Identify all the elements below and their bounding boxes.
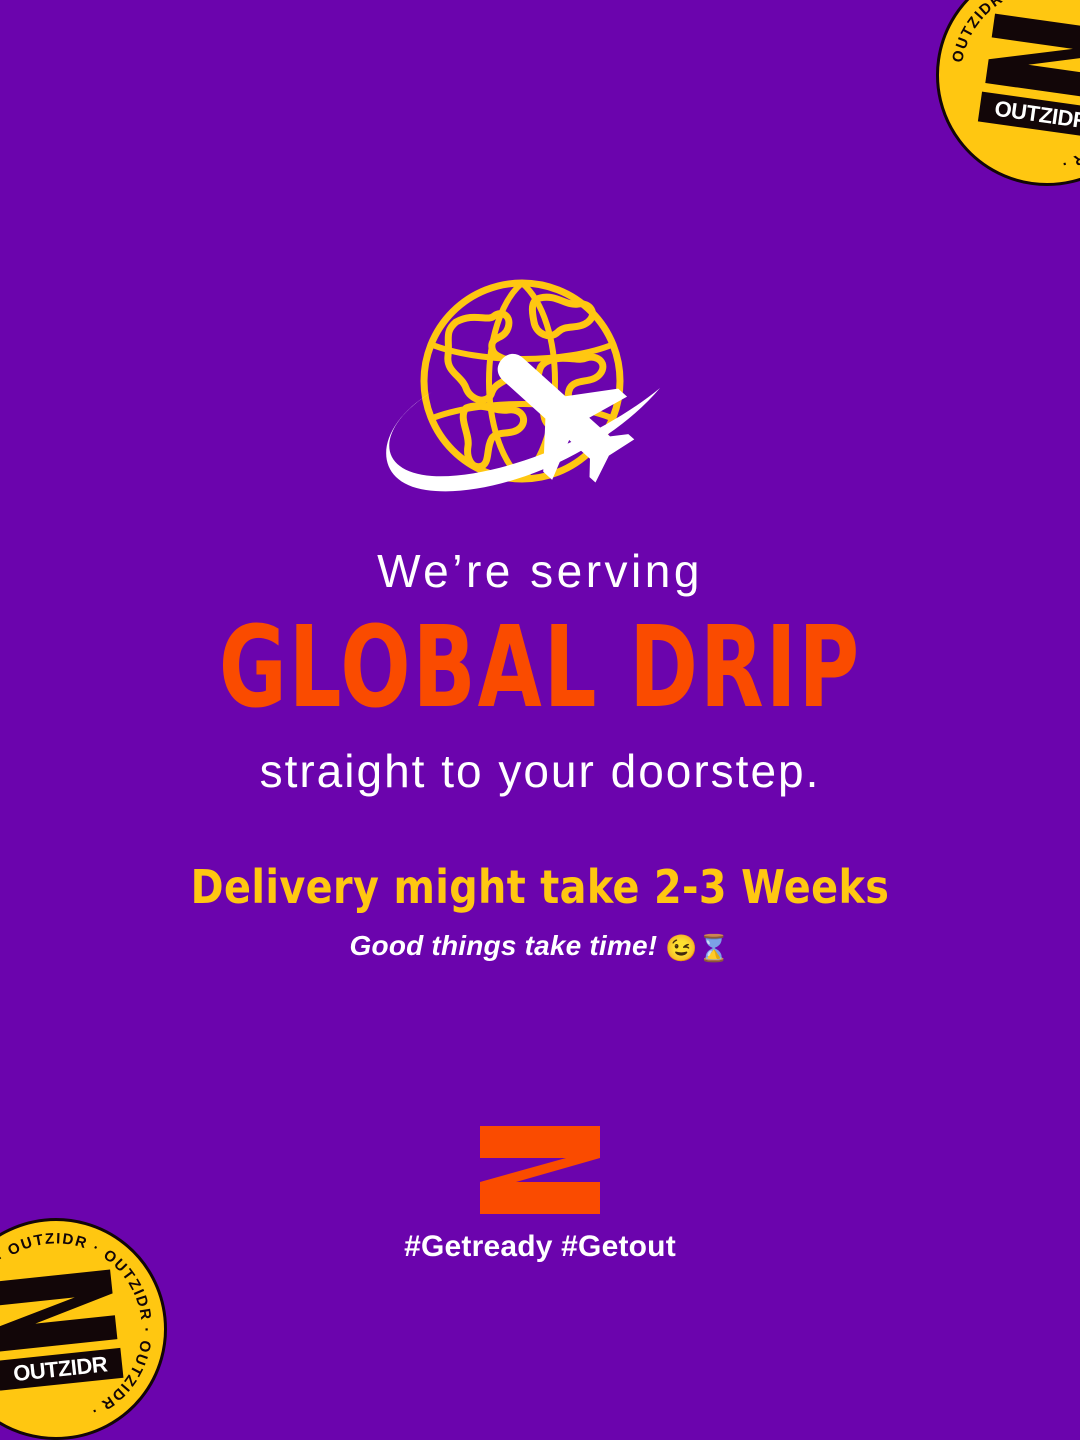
outzidr-z-logo — [478, 1124, 602, 1216]
poster-canvas: We’re serving GLOBAL DRIP straight to yo… — [0, 0, 1080, 1440]
subhead-text: straight to your doorstep. — [0, 748, 1080, 794]
delivery-sub-text: Good things take time! — [350, 930, 658, 961]
badge-core: OUTZIDR — [0, 1267, 123, 1390]
badge-z-icon — [0, 1267, 120, 1354]
hashtags-text: #Getready #Getout — [404, 1230, 676, 1264]
badge-core: OUTZIDR — [978, 11, 1080, 138]
copy-block: We’re serving GLOBAL DRIP straight to yo… — [0, 548, 1080, 961]
badge-z-icon — [983, 11, 1080, 102]
headline-text: GLOBAL DRIP — [0, 612, 1080, 724]
outzidr-badge-top-right: OUTZIDR · OUTZIDR · OUTZIDR · OUTZIDR · … — [922, 0, 1080, 200]
footer-block: #Getready #Getout — [0, 1124, 1080, 1264]
outzidr-badge-bottom-left: OUTZIDR · OUTZIDR · OUTZIDR · OUTZIDR · … — [0, 1207, 178, 1440]
wink-face-icon: 😉 — [665, 933, 698, 963]
delivery-sub-line: Good things take time! 😉⌛ — [0, 932, 1080, 961]
hourglass-icon: ⌛ — [698, 933, 731, 963]
eyebrow-text: We’re serving — [0, 548, 1080, 594]
hero-graphic — [0, 276, 1080, 501]
globe-airplane-icon — [370, 276, 710, 501]
delivery-notice-text: Delivery might take 2-3 Weeks — [22, 864, 1059, 910]
